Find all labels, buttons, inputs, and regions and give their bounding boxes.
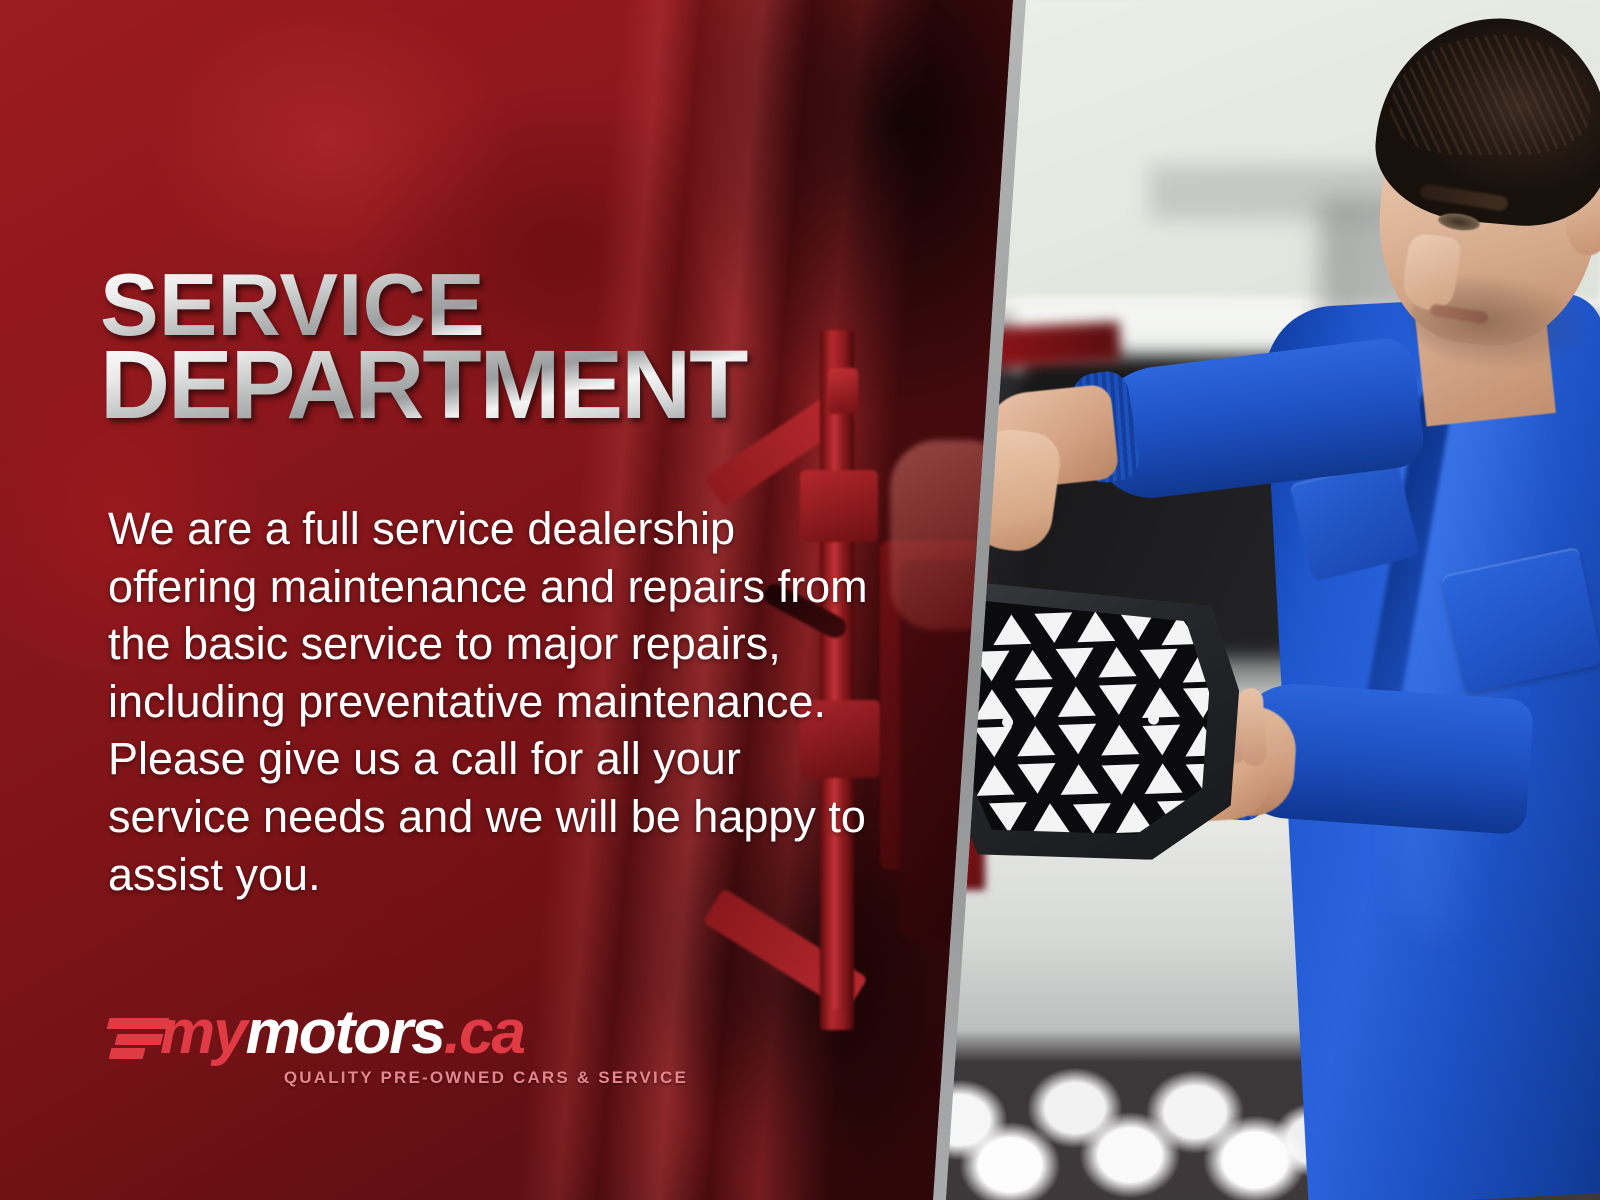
finger — [1237, 687, 1267, 767]
body-copy: We are a full service dealership offerin… — [108, 500, 868, 903]
service-department-banner: SERVICE DEPARTMENT We are a full service… — [0, 0, 1600, 1200]
logo-wordmark: mymotors.ca — [108, 1000, 688, 1066]
banner-content: SERVICE DEPARTMENT We are a full service… — [0, 0, 1013, 1200]
headline-line-2: DEPARTMENT — [100, 340, 960, 429]
mymotors-logo[interactable]: mymotors.ca QUALITY PRE-OWNED CARS & SER… — [108, 1000, 688, 1100]
logo-motors: motors — [246, 998, 444, 1067]
logo-my: my — [160, 998, 246, 1067]
logo-tagline: QUALITY PRE-OWNED CARS & SERVICE — [284, 1068, 688, 1088]
page-title: SERVICE DEPARTMENT — [100, 265, 960, 429]
logo-ca: .ca — [444, 998, 524, 1067]
logo-text: mymotors.ca — [160, 1000, 524, 1066]
panel-hole — [1148, 713, 1159, 724]
